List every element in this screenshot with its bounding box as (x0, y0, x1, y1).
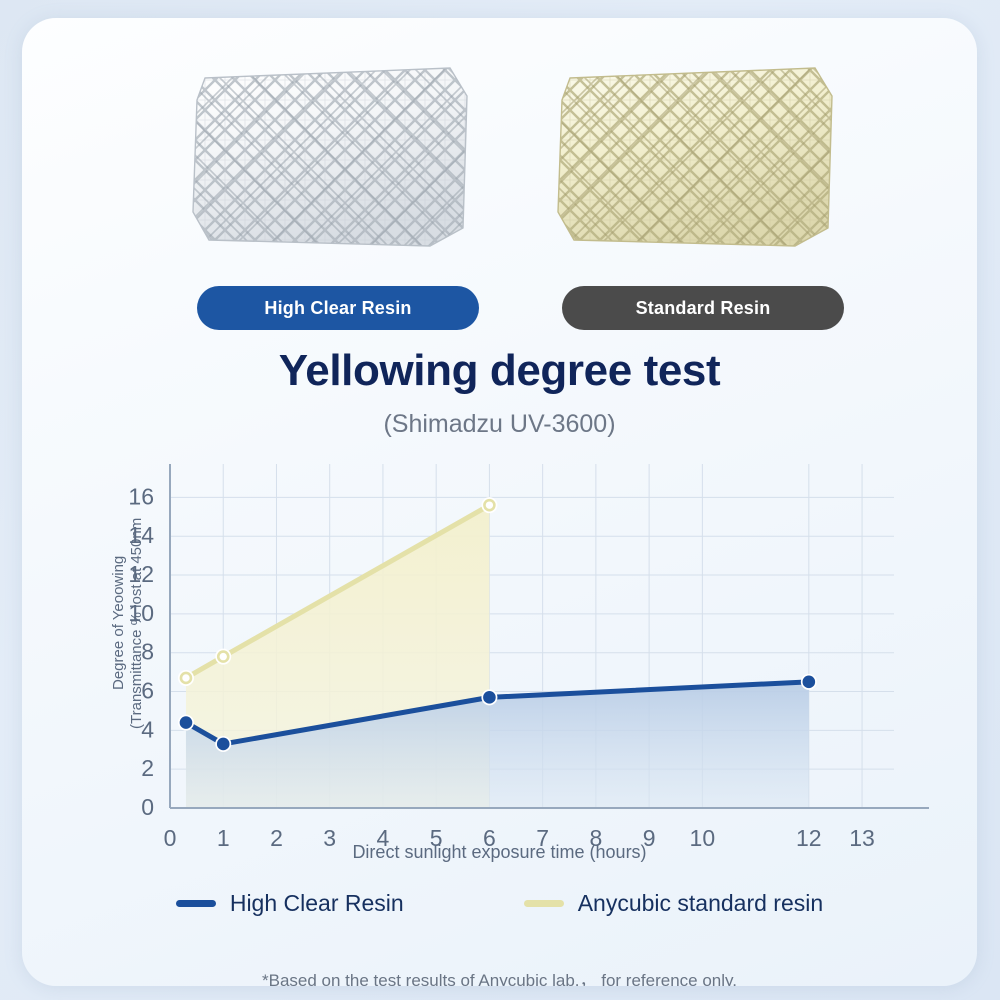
legend-swatch-icon (176, 900, 216, 907)
chart-areas (186, 505, 809, 808)
svg-text:2: 2 (141, 755, 154, 781)
content-card: High Clear Resin (22, 18, 977, 986)
legend-swatch-icon (524, 900, 564, 907)
legend-item-high-clear: High Clear Resin (176, 890, 404, 917)
specimen-label-standard: Standard Resin (562, 286, 844, 330)
specimen-label-text: Standard Resin (636, 298, 771, 319)
svg-text:10: 10 (128, 600, 154, 626)
chart-title: Yellowing degree test (22, 346, 977, 396)
specimen-comparison: High Clear Resin (22, 40, 977, 330)
svg-text:4: 4 (141, 716, 154, 742)
svg-text:8: 8 (141, 639, 154, 665)
specimen-label-text: High Clear Resin (264, 298, 411, 319)
lattice-graphic-standard (540, 50, 850, 260)
line-chart: 02468101214160123456789101213 (22, 448, 977, 898)
lattice-graphic-clear (175, 50, 485, 260)
page-root: High Clear Resin (0, 0, 1000, 1000)
legend-label: Anycubic standard resin (578, 890, 823, 917)
x-axis-label: Direct sunlight exposure time (hours) (22, 842, 977, 863)
svg-text:0: 0 (141, 794, 154, 820)
specimen-high-clear: High Clear Resin (157, 40, 502, 330)
footnote: *Based on the test results of Anycubic l… (22, 966, 977, 986)
lattice-cube-standard-image (540, 50, 850, 260)
svg-text:12: 12 (128, 561, 154, 587)
specimen-label-high-clear: High Clear Resin (197, 286, 479, 330)
chart-legend: High Clear Resin Anycubic standard resin (22, 890, 977, 917)
svg-text:6: 6 (141, 678, 154, 704)
legend-item-standard: Anycubic standard resin (524, 890, 823, 917)
svg-text:16: 16 (128, 483, 154, 509)
lattice-cube-clear-image (175, 50, 485, 260)
specimen-standard: Standard Resin (522, 40, 867, 330)
legend-label: High Clear Resin (230, 890, 404, 917)
chart-subtitle: (Shimadzu UV-3600) (22, 410, 977, 439)
svg-text:14: 14 (128, 522, 154, 548)
